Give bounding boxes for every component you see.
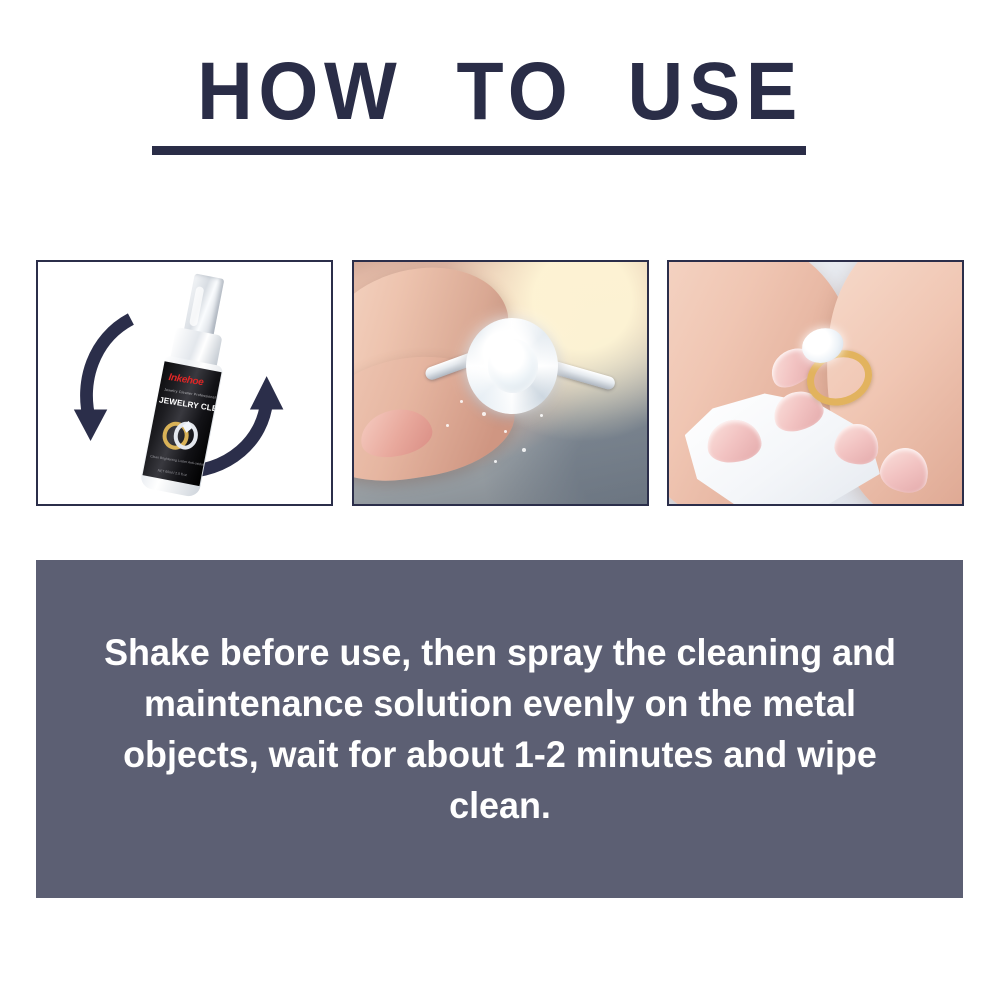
sparkle bbox=[446, 424, 449, 427]
sparkle bbox=[504, 430, 507, 433]
wipe-photo bbox=[669, 262, 962, 504]
sparkle bbox=[460, 400, 463, 403]
photo-panel-spray-the-ring bbox=[352, 260, 649, 506]
instruction-panel: Shake before use, then spray the cleanin… bbox=[36, 560, 963, 898]
diamond-halo-ring bbox=[466, 318, 558, 414]
bottle-scene: Inkehoe Jewelry Cleaner Professional JEW… bbox=[38, 262, 331, 504]
rings-illustration-icon bbox=[159, 414, 203, 455]
ring-closeup-photo bbox=[354, 262, 647, 504]
photo-panel-shake-the-bottle: Inkehoe Jewelry Cleaner Professional JEW… bbox=[36, 260, 333, 506]
header: HOW TO USE bbox=[0, 48, 1000, 136]
sparkle bbox=[522, 448, 526, 452]
instruction-text: Shake before use, then spray the cleanin… bbox=[97, 627, 902, 831]
center-diamond bbox=[488, 339, 538, 393]
bottle-label: Inkehoe Jewelry Cleaner Professional JEW… bbox=[142, 361, 221, 486]
photo-panel-wipe-with-cloth bbox=[667, 260, 964, 506]
title-underline-rule bbox=[152, 146, 806, 155]
label-volume: NET 60ml / 2.0 fl.oz bbox=[157, 468, 187, 477]
bottle-body: Inkehoe Jewelry Cleaner Professional JEW… bbox=[139, 355, 223, 498]
sparkle bbox=[482, 412, 486, 416]
sparkle bbox=[540, 414, 543, 417]
page-title: HOW TO USE bbox=[30, 48, 970, 136]
curved-arrow-left-icon bbox=[74, 319, 131, 441]
sparkle bbox=[494, 460, 497, 463]
label-footnote: Clean Brightening Luster Anti-oxidation bbox=[150, 453, 209, 468]
brand-name: Inkehoe bbox=[168, 372, 204, 388]
photo-strip: Inkehoe Jewelry Cleaner Professional JEW… bbox=[36, 260, 964, 506]
